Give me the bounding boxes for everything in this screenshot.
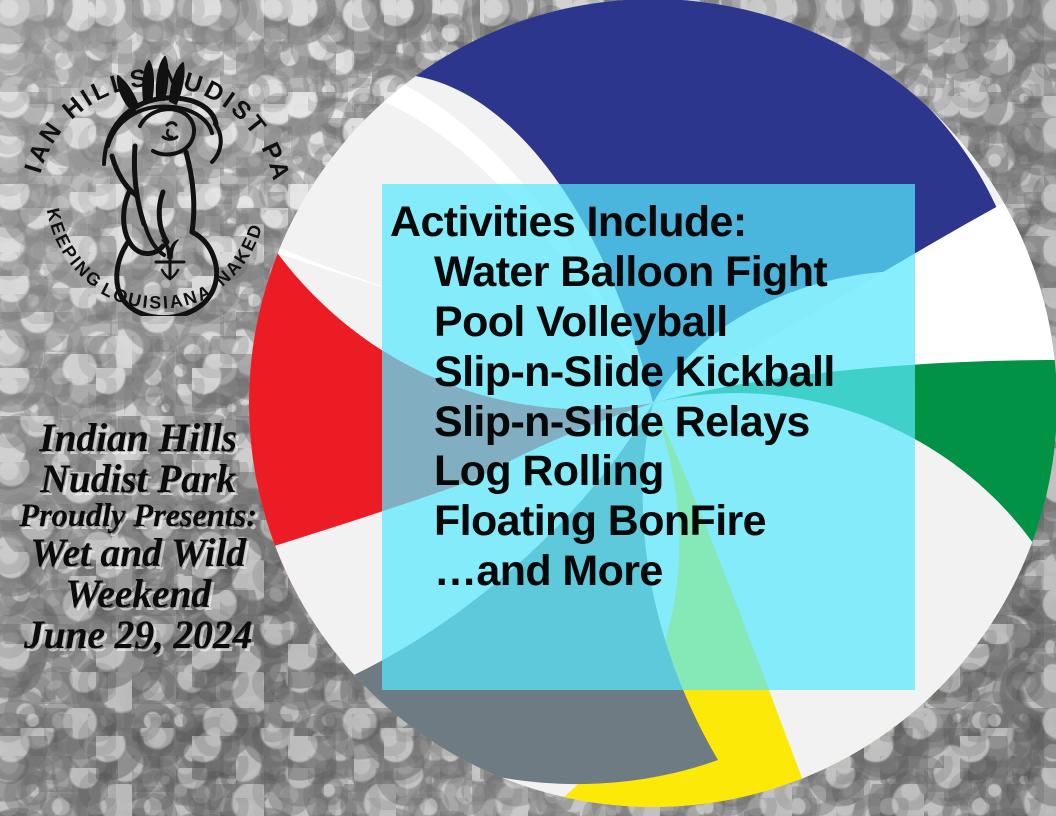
logo-arc-top-text: INDIAN HILLS NUDIST PARK	[16, 6, 296, 186]
poster-canvas: Activities Include: Water Balloon Fight …	[0, 0, 1056, 816]
logo-arc-bottom-right-text: NAKED	[212, 220, 267, 290]
activity-item: Slip-n-Slide Relays	[390, 398, 915, 448]
activity-item: …and More	[390, 547, 915, 597]
headline-line-6: June 29, 2024	[4, 615, 272, 656]
activity-item: Pool Volleyball	[390, 298, 915, 348]
park-logo: INDIAN HILLS NUDIST PARK KEEPING LOUISIA…	[16, 6, 296, 316]
headline-line-4: Wet and Wild	[4, 533, 272, 574]
headline-line-2: Nudist Park	[4, 459, 272, 500]
activity-item: Water Balloon Fight	[390, 248, 915, 298]
activities-heading: Activities Include:	[390, 198, 915, 248]
event-headline: Indian Hills Nudist Park Proudly Present…	[4, 418, 272, 656]
headline-line-5: Weekend	[4, 574, 272, 615]
activity-item: Log Rolling	[390, 447, 915, 497]
headline-line-3: Proudly Presents:	[4, 500, 272, 534]
activities-list: Activities Include: Water Balloon Fight …	[382, 184, 915, 690]
logo-arc-bottom-left-text: KEEPING	[43, 206, 107, 292]
activity-item: Slip-n-Slide Kickball	[390, 348, 915, 398]
headline-line-1: Indian Hills	[4, 418, 272, 459]
activity-item: Floating BonFire	[390, 497, 915, 547]
